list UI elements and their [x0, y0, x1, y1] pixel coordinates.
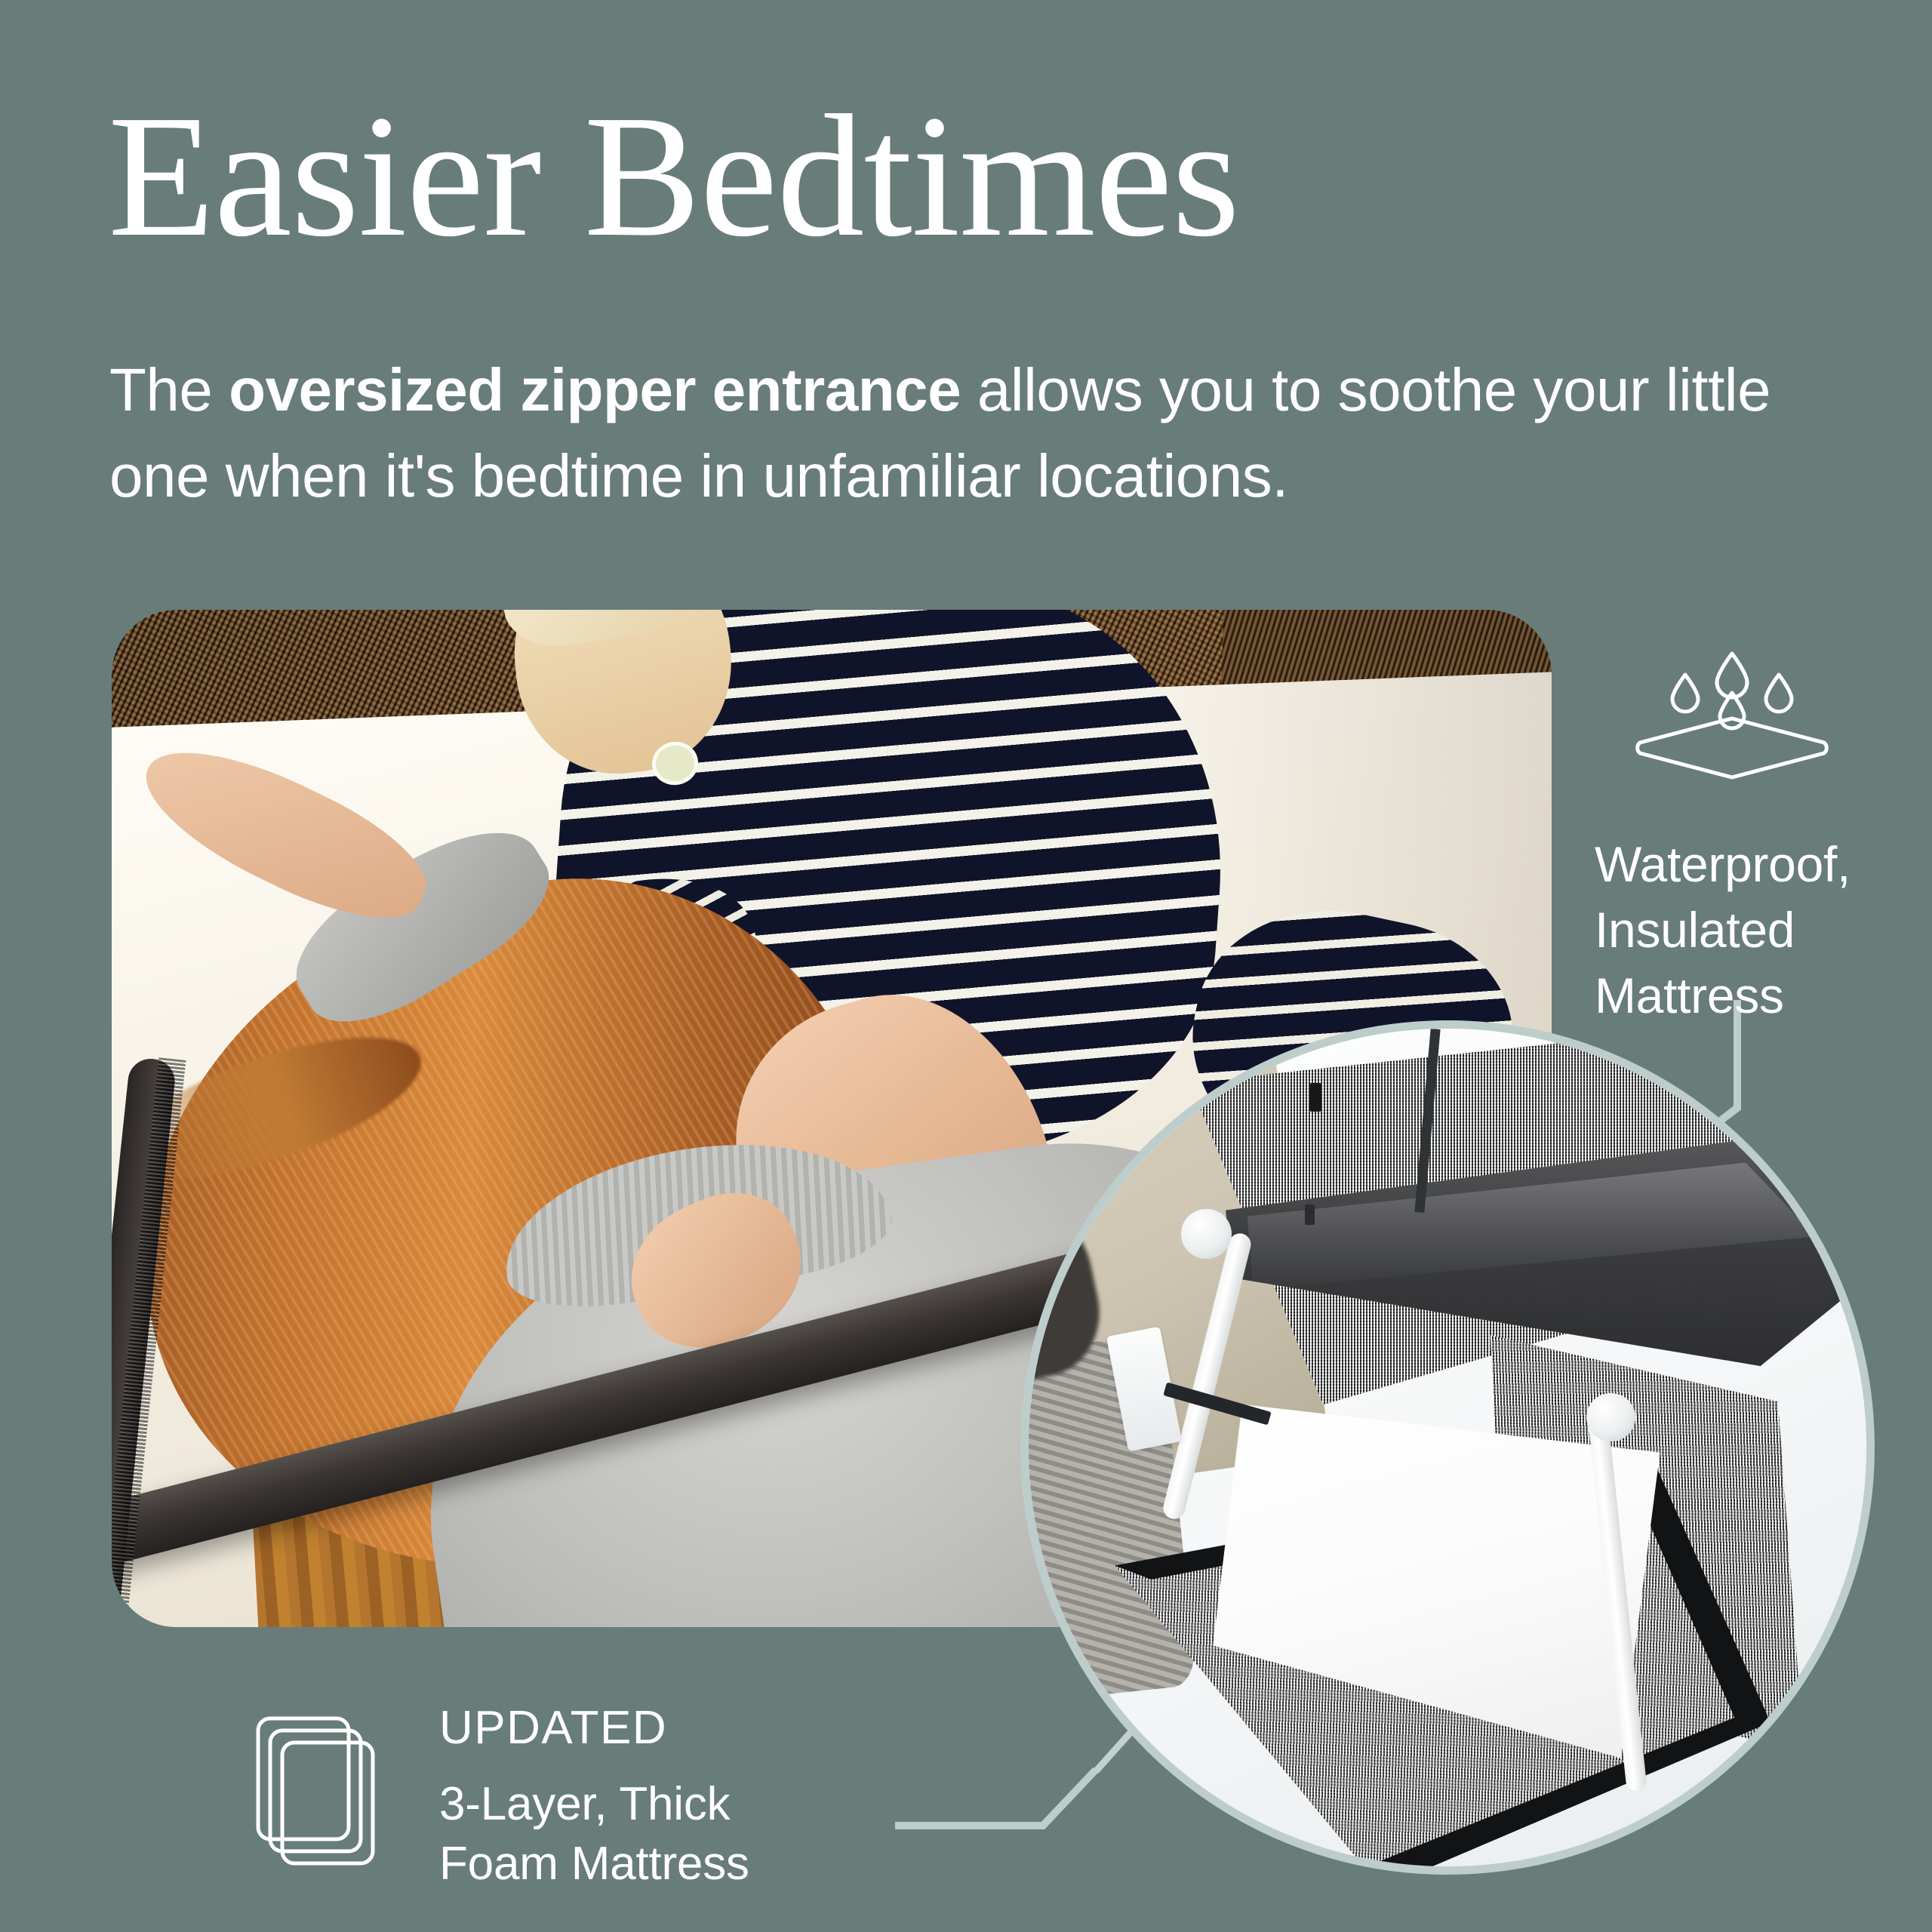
- updated-badge: UPDATED: [439, 1705, 749, 1752]
- subheading-part-1: The: [109, 356, 229, 423]
- feature-foam-texts: UPDATED 3-Layer, Thick Foam Mattress: [439, 1702, 749, 1894]
- feature-foam-label: 3-Layer, Thick Foam Mattress: [439, 1774, 749, 1894]
- product-closeup-content: [1029, 1029, 1866, 1866]
- product-closeup-circle: [1020, 1020, 1875, 1875]
- page-title: Easier Bedtimes: [108, 89, 1239, 264]
- stacked-layers-icon: [249, 1709, 400, 1883]
- feature-waterproof-label: Waterproof, Insulated Mattress: [1581, 832, 1883, 1029]
- water-droplets-on-mattress-icon: [1626, 649, 1838, 785]
- marketing-infographic: Easier Bedtimes The oversized zipper ent…: [0, 0, 1932, 1932]
- feature-foam-mattress: UPDATED 3-Layer, Thick Foam Mattress: [249, 1702, 749, 1894]
- subheading: The oversized zipper entrance allows you…: [109, 347, 1845, 518]
- crib-hinge-right: [1586, 1393, 1635, 1441]
- crib-zipper-pull: [1309, 1083, 1322, 1112]
- feature-waterproof: Waterproof, Insulated Mattress: [1581, 649, 1883, 1029]
- subheading-bold: oversized zipper entrance: [229, 356, 961, 423]
- crib-hinge-left: [1181, 1209, 1232, 1260]
- crib-zipper-pull-secondary: [1305, 1204, 1314, 1225]
